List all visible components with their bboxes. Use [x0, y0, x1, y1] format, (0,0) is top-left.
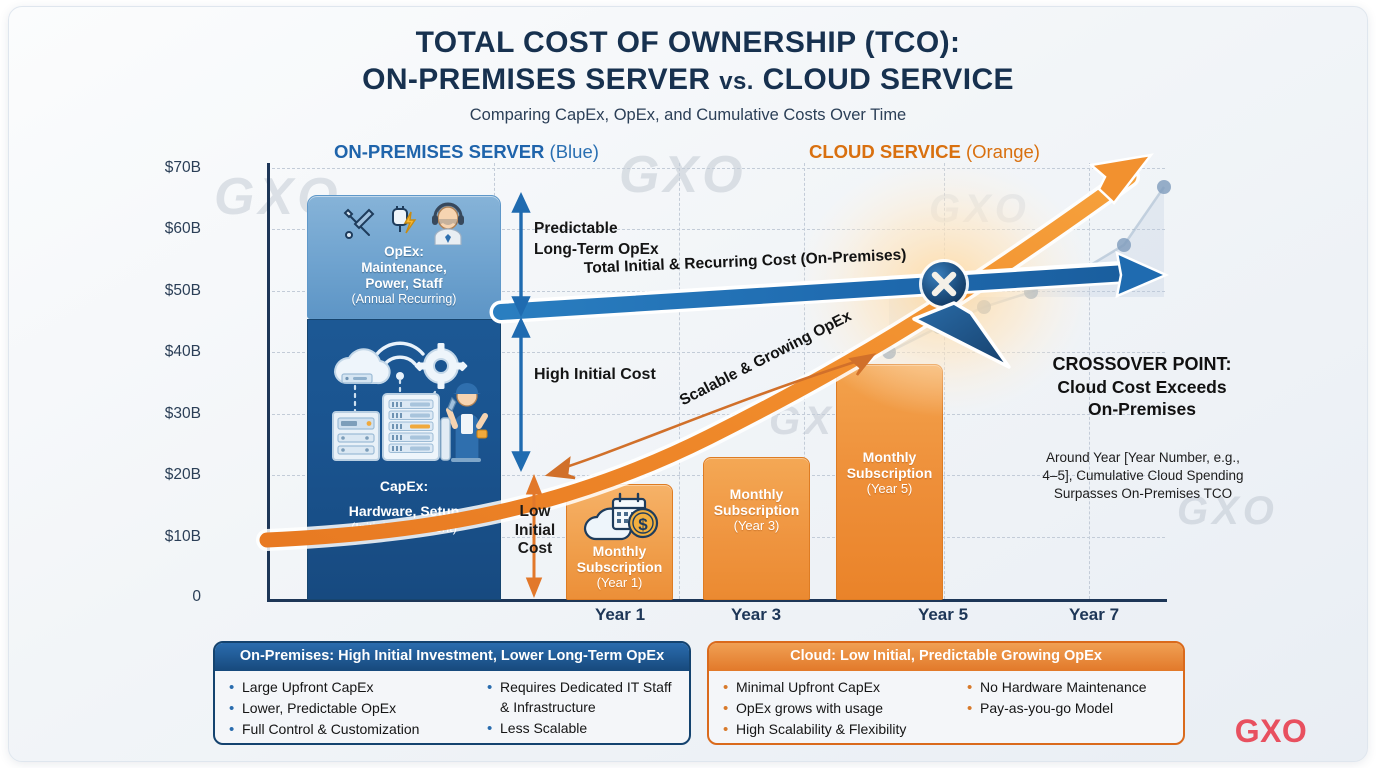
cloud-icon [335, 349, 390, 383]
bar-year-5: Monthly Subscription (Year 5) [836, 364, 943, 600]
server-rack-icon [383, 394, 439, 460]
cloud-subscription-icon: $ [579, 487, 661, 543]
bar-year-1-label-2: Subscription [567, 559, 672, 575]
crossover-title-line3: On-Premises [1009, 398, 1275, 420]
infographic-card: GXO GXO GXO GXO GXO TOTAL COST OF OWNERS… [8, 6, 1368, 762]
predictable-opex-bracket [514, 196, 528, 313]
dollar-coin-icon: $ [629, 509, 657, 537]
summary-onprem-columns: Large Upfront CapEx Lower, Predictable O… [215, 671, 689, 741]
title-vs: vs. [719, 68, 754, 95]
capex-subtitle: (Initial Investment) [308, 520, 500, 535]
bar-year-5-sub: (Year 5) [837, 481, 942, 496]
legend-onprem-name: ON-PREMISES SERVER [334, 141, 544, 162]
opex-icon-row [308, 196, 500, 244]
bar-year-5-label-1: Monthly [837, 449, 942, 465]
list-item: Pay-as-you-go Model [967, 699, 1173, 719]
bar-year-3-label-1: Monthly [704, 486, 809, 502]
legend-onprem-color: (Blue) [550, 141, 599, 162]
support-agent-icon [427, 201, 469, 245]
gear-icon [414, 343, 468, 389]
gridline-v-2 [679, 163, 680, 599]
opex-title-2: Maintenance, [308, 260, 500, 276]
list-item: Full Control & Customization [229, 720, 483, 740]
summary-cloud-col-1: Minimal Upfront CapEx OpEx grows with us… [723, 678, 963, 741]
crossover-body-line2: 4–5], Cumulative Cloud Spending [1007, 467, 1279, 485]
title-onprem: ON-PREMISES SERVER [362, 63, 710, 96]
gridline-70 [267, 168, 1165, 169]
summary-onprem-col-2: Requires Dedicated IT Staff & Infrastruc… [487, 678, 679, 741]
legend-cloud-name: CLOUD SERVICE [809, 141, 961, 162]
opex-subtitle: (Annual Recurring) [308, 292, 500, 306]
capex-icon-row [308, 320, 500, 470]
y-tick-10: $10B [121, 528, 201, 546]
legend-cloud-color: (Orange) [966, 141, 1040, 162]
list-item: No Hardware Maintenance [967, 678, 1173, 698]
tools-icon [339, 204, 379, 242]
list-item: Less Scalable [487, 719, 679, 739]
annotation-low-initial-cost: Low Initial Cost [509, 503, 561, 559]
summary-cloud-col-2: No Hardware Maintenance Pay-as-you-go Mo… [967, 678, 1173, 741]
x-tick-year-7: Year 7 [1024, 605, 1164, 625]
x-tick-year-3: Year 3 [686, 605, 826, 625]
cloud-curve-arrowhead [1091, 155, 1151, 203]
annotation-low-line1: Low [509, 503, 561, 522]
list-item: Large Upfront CapEx [229, 678, 483, 698]
y-tick-20: $20B [121, 466, 201, 484]
summary-cloud-columns: Minimal Upfront CapEx OpEx grows with us… [709, 671, 1183, 741]
crossover-callout-title: CROSSOVER POINT: Cloud Cost Exceeds On-P… [1009, 353, 1275, 420]
crossover-body-line3: Surpasses On-Premises TCO [1007, 485, 1279, 503]
gxo-logo: GXO [1235, 713, 1308, 750]
legend-onpremises: ON-PREMISES SERVER (Blue) [334, 141, 599, 163]
onprem-opex-box: OpEx: Maintenance, Power, Staff (Annual … [307, 195, 501, 319]
bar-year-1-sub: (Year 1) [567, 575, 672, 590]
page-subtitle: Comparing CapEx, OpEx, and Cumulative Co… [9, 106, 1367, 125]
bar-year-1-label-1: Monthly [567, 543, 672, 559]
power-plug-icon [387, 204, 419, 242]
x-tick-year-5: Year 5 [873, 605, 1013, 625]
onprem-capex-box: CapEx: Hardware, Setup (Initial Investme… [307, 319, 501, 600]
annotation-cloud-curve-label: Scalable & Growing OpEx [677, 308, 855, 410]
technician-icon [441, 383, 487, 462]
opex-title-1: OpEx: [308, 244, 500, 260]
y-axis-line [267, 163, 270, 601]
list-item: High Scalability & Flexibility [723, 720, 963, 740]
summary-cloud-heading: Cloud: Low Initial, Predictable Growing … [709, 643, 1183, 671]
legend-cloud: CLOUD SERVICE (Orange) [809, 141, 1040, 163]
y-tick-70: $70B [121, 159, 201, 177]
bar-year-5-label-2: Subscription [837, 465, 942, 481]
list-item: Minimal Upfront CapEx [723, 678, 963, 698]
annotation-high-initial-cost: High Initial Cost [534, 366, 656, 384]
list-item: Lower, Predictable OpEx [229, 699, 483, 719]
page-title-line2: ON-PREMISES SERVER vs. CLOUD SERVICE [9, 62, 1367, 99]
bar-year-3-label-2: Subscription [704, 502, 809, 518]
annotation-low-line2: Initial [509, 522, 561, 541]
high-initial-cost-bracket [514, 321, 528, 468]
y-tick-0: 0 [121, 588, 201, 606]
capex-title-2: Hardware, Setup [308, 503, 500, 520]
crossover-callout-body: Around Year [Year Number, e.g., 4–5], Cu… [1007, 449, 1279, 503]
annotation-predictable-line1: Predictable [534, 219, 659, 240]
summary-box-onpremises: On-Premises: High Initial Investment, Lo… [213, 641, 691, 745]
capex-title-1: CapEx: [308, 478, 500, 495]
summary-box-cloud: Cloud: Low Initial, Predictable Growing … [707, 641, 1185, 745]
x-tick-year-1: Year 1 [550, 605, 690, 625]
y-tick-40: $40B [121, 343, 201, 361]
summary-onprem-col-1: Large Upfront CapEx Lower, Predictable O… [229, 678, 483, 741]
crossover-body-line1: Around Year [Year Number, e.g., [1007, 449, 1279, 467]
list-item: Requires Dedicated IT Staff & Infrastruc… [487, 678, 679, 718]
title-cloud: CLOUD SERVICE [763, 63, 1014, 96]
bar-year-3-sub: (Year 3) [704, 518, 809, 533]
wrench-icon [448, 398, 456, 411]
annotation-low-line3: Cost [509, 540, 561, 559]
y-tick-50: $50B [121, 282, 201, 300]
annotation-predictable-opex: Predictable Long-Term OpEx [534, 219, 659, 261]
crossover-pointer-arrow [914, 303, 1009, 367]
y-tick-60: $60B [121, 220, 201, 238]
crossover-title-line2: Cloud Cost Exceeds [1009, 376, 1275, 398]
crossover-title-line1: CROSSOVER POINT: [1009, 353, 1275, 376]
y-tick-30: $30B [121, 405, 201, 423]
server-small-icon [333, 412, 379, 460]
title-block: TOTAL COST OF OWNERSHIP (TCO): ON-PREMIS… [9, 25, 1367, 125]
gridline-v-4 [944, 163, 945, 599]
watermark-gxo: GXO [619, 145, 747, 205]
svg-text:$: $ [638, 515, 648, 534]
bar-year-3: Monthly Subscription (Year 3) [703, 457, 810, 600]
list-item: OpEx grows with usage [723, 699, 963, 719]
page-title-line1: TOTAL COST OF OWNERSHIP (TCO): [9, 25, 1367, 62]
datacenter-icon [315, 314, 493, 464]
onprem-line-arrowhead [1117, 253, 1166, 296]
opex-title-3: Power, Staff [308, 276, 500, 292]
infographic-page: GXO GXO GXO GXO GXO TOTAL COST OF OWNERS… [0, 0, 1376, 768]
summary-onprem-heading: On-Premises: High Initial Investment, Lo… [215, 643, 689, 671]
